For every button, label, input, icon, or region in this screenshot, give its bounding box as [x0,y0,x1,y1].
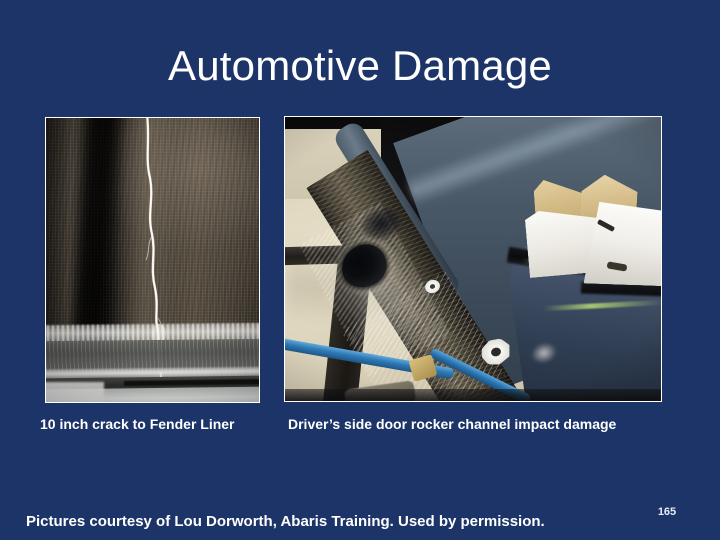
slide: Automotive Damage [0,0,720,540]
figure-rocker-channel-impact [284,116,662,402]
photo-vignette [285,117,661,401]
figure-fender-liner-crack [45,117,260,403]
caption-fender-liner-crack: 10 inch crack to Fender Liner [40,416,235,432]
page-title: Automotive Damage [0,41,720,91]
credit-line: Pictures courtesy of Lou Dorworth, Abari… [26,513,545,531]
caption-rocker-channel-impact: Driver’s side door rocker channel impact… [288,416,616,432]
page-number: 165 [650,506,684,519]
photo-vignette [46,118,259,402]
